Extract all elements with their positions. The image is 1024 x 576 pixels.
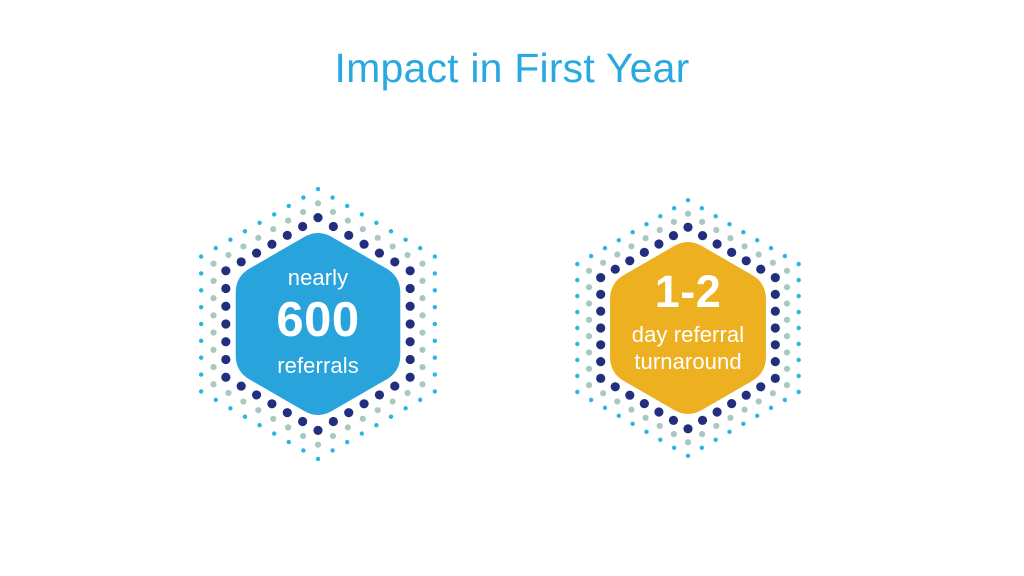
outer-cyan-dot-ring-dot [403, 237, 407, 241]
outer-cyan-dot-ring-dot [796, 326, 800, 330]
outer-cyan-dot-ring-dot [228, 237, 232, 241]
middle-sage-dot-ring-dot [255, 407, 261, 413]
outer-cyan-dot-ring-dot [575, 390, 579, 394]
outer-cyan-dot-ring-dot [433, 271, 437, 275]
middle-sage-dot-ring-dot [614, 251, 620, 257]
middle-sage-dot-ring-dot [210, 312, 216, 318]
outer-cyan-dot-ring-dot [214, 246, 218, 250]
outer-cyan-dot-ring-dot [433, 389, 437, 393]
middle-sage-dot-ring-dot [586, 284, 592, 290]
outer-cyan-dot-ring-dot [644, 430, 648, 434]
middle-sage-dot-ring-dot [419, 364, 425, 370]
inner-navy-dot-ring-dot [221, 319, 230, 328]
middle-sage-dot-ring-dot [315, 200, 321, 206]
middle-sage-dot-ring-dot [330, 433, 336, 439]
outer-cyan-dot-ring-dot [199, 271, 203, 275]
inner-navy-dot-ring-dot [771, 374, 780, 383]
outer-cyan-dot-ring-dot [575, 262, 579, 266]
outer-cyan-dot-ring-dot [243, 415, 247, 419]
middle-sage-dot-ring-dot [628, 243, 634, 249]
outer-cyan-dot-ring-dot [575, 326, 579, 330]
outer-cyan-dot-ring-dot [287, 204, 291, 208]
inner-navy-dot-ring-dot [640, 399, 649, 408]
outer-cyan-dot-ring-dot [433, 339, 437, 343]
middle-sage-dot-ring-dot [315, 442, 321, 448]
badge-turnaround-graphic [538, 178, 838, 478]
outer-cyan-dot-ring-dot [603, 246, 607, 250]
middle-sage-dot-ring-dot [586, 366, 592, 372]
inner-navy-dot-ring-dot [252, 390, 261, 399]
inner-navy-dot-ring-dot [406, 319, 415, 328]
outer-cyan-dot-ring-dot [575, 310, 579, 314]
inner-navy-dot-ring-dot [221, 302, 230, 311]
outer-cyan-dot-ring-dot [575, 358, 579, 362]
outer-cyan-dot-ring-dot [575, 278, 579, 282]
middle-sage-dot-ring-dot [210, 347, 216, 353]
outer-cyan-dot-ring-dot [796, 358, 800, 362]
inner-navy-dot-ring-dot [683, 223, 692, 232]
outer-cyan-dot-ring-dot [301, 448, 305, 452]
inner-navy-dot-ring-dot [344, 231, 353, 240]
outer-cyan-dot-ring-dot [617, 238, 621, 242]
outer-cyan-dot-ring-dot [301, 195, 305, 199]
inner-navy-dot-ring-dot [221, 373, 230, 382]
outer-cyan-dot-ring-dot [272, 212, 276, 216]
middle-sage-dot-ring-dot [741, 243, 747, 249]
inner-navy-dot-ring-dot [298, 417, 307, 426]
inner-navy-dot-ring-dot [713, 407, 722, 416]
inner-navy-dot-ring-dot [713, 239, 722, 248]
middle-sage-dot-ring-dot [642, 415, 648, 421]
outer-cyan-dot-ring-dot [658, 438, 662, 442]
outer-cyan-dot-ring-dot [575, 294, 579, 298]
middle-sage-dot-ring-dot [586, 333, 592, 339]
middle-sage-dot-ring-dot [225, 390, 231, 396]
outer-cyan-dot-ring-dot [360, 431, 364, 435]
middle-sage-dot-ring-dot [419, 330, 425, 336]
outer-cyan-dot-ring-dot [617, 414, 621, 418]
inner-navy-dot-ring-dot [596, 357, 605, 366]
outer-cyan-dot-ring-dot [345, 440, 349, 444]
inner-navy-dot-ring-dot [329, 222, 338, 231]
inner-navy-dot-ring-dot [669, 416, 678, 425]
outer-cyan-dot-ring-dot [796, 262, 800, 266]
outer-cyan-dot-ring-dot [287, 440, 291, 444]
outer-cyan-dot-ring-dot [755, 238, 759, 242]
middle-sage-dot-ring-dot [600, 260, 606, 266]
inner-navy-dot-ring-dot [698, 231, 707, 240]
middle-sage-dot-ring-dot [210, 278, 216, 284]
outer-cyan-dot-ring-dot [316, 457, 320, 461]
middle-sage-dot-ring-dot [756, 251, 762, 257]
inner-navy-dot-ring-dot [406, 355, 415, 364]
middle-sage-dot-ring-dot [671, 219, 677, 225]
slide-canvas: Impact in First Year nearly 600 referral… [0, 0, 1024, 576]
middle-sage-dot-ring-dot [784, 268, 790, 274]
middle-sage-dot-ring-dot [210, 295, 216, 301]
middle-sage-dot-ring-dot [784, 284, 790, 290]
inner-navy-dot-ring-dot [375, 390, 384, 399]
middle-sage-dot-ring-dot [375, 407, 381, 413]
middle-sage-dot-ring-dot [300, 209, 306, 215]
outer-cyan-dot-ring-dot [374, 423, 378, 427]
middle-sage-dot-ring-dot [685, 439, 691, 445]
outer-cyan-dot-ring-dot [741, 230, 745, 234]
outer-cyan-dot-ring-dot [575, 374, 579, 378]
outer-cyan-dot-ring-dot [433, 254, 437, 258]
middle-sage-dot-ring-dot [360, 416, 366, 422]
middle-sage-dot-ring-dot [784, 333, 790, 339]
middle-sage-dot-ring-dot [586, 382, 592, 388]
inner-navy-dot-ring-dot [771, 323, 780, 332]
outer-cyan-dot-ring-dot [741, 422, 745, 426]
middle-sage-dot-ring-dot [404, 252, 410, 258]
inner-navy-dot-ring-dot [237, 257, 246, 266]
inner-navy-dot-ring-dot [611, 265, 620, 274]
inner-navy-dot-ring-dot [742, 391, 751, 400]
middle-sage-dot-ring-dot [586, 317, 592, 323]
badge-referrals-graphic [168, 174, 468, 474]
middle-sage-dot-ring-dot [419, 261, 425, 267]
outer-cyan-dot-ring-dot [199, 356, 203, 360]
outer-cyan-dot-ring-dot [796, 310, 800, 314]
middle-sage-dot-ring-dot [642, 235, 648, 241]
inner-navy-dot-ring-dot [596, 290, 605, 299]
outer-cyan-dot-ring-dot [272, 431, 276, 435]
inner-navy-dot-ring-dot [406, 266, 415, 275]
inner-navy-dot-ring-dot [771, 273, 780, 282]
outer-cyan-dot-ring-dot [603, 406, 607, 410]
middle-sage-dot-ring-dot [671, 431, 677, 437]
middle-sage-dot-ring-dot [225, 252, 231, 258]
middle-sage-dot-ring-dot [657, 423, 663, 429]
outer-cyan-dot-ring-dot [686, 454, 690, 458]
outer-cyan-dot-ring-dot [672, 206, 676, 210]
middle-sage-dot-ring-dot [285, 424, 291, 430]
inner-navy-dot-ring-dot [756, 382, 765, 391]
badge-referrals: nearly 600 referrals [168, 174, 468, 474]
outer-cyan-dot-ring-dot [658, 214, 662, 218]
outer-cyan-dot-ring-dot [199, 322, 203, 326]
middle-sage-dot-ring-dot [713, 423, 719, 429]
hexagon-shape-yellow [610, 242, 766, 414]
middle-sage-dot-ring-dot [699, 431, 705, 437]
outer-cyan-dot-ring-dot [755, 414, 759, 418]
inner-navy-dot-ring-dot [283, 408, 292, 417]
outer-cyan-dot-ring-dot [374, 221, 378, 225]
inner-navy-dot-ring-dot [406, 373, 415, 382]
middle-sage-dot-ring-dot [727, 415, 733, 421]
inner-navy-dot-ring-dot [771, 290, 780, 299]
outer-cyan-dot-ring-dot [316, 187, 320, 191]
inner-navy-dot-ring-dot [406, 337, 415, 346]
middle-sage-dot-ring-dot [586, 349, 592, 355]
middle-sage-dot-ring-dot [770, 260, 776, 266]
outer-cyan-dot-ring-dot [796, 390, 800, 394]
middle-sage-dot-ring-dot [390, 243, 396, 249]
outer-cyan-dot-ring-dot [796, 294, 800, 298]
outer-cyan-dot-ring-dot [796, 374, 800, 378]
inner-navy-dot-ring-dot [683, 424, 692, 433]
inner-navy-dot-ring-dot [252, 248, 261, 257]
middle-sage-dot-ring-dot [270, 416, 276, 422]
inner-navy-dot-ring-dot [406, 284, 415, 293]
badge-group: nearly 600 referrals 1-2 day referral tu… [0, 0, 1024, 576]
inner-navy-dot-ring-dot [611, 382, 620, 391]
inner-navy-dot-ring-dot [313, 426, 322, 435]
outer-cyan-dot-ring-dot [433, 322, 437, 326]
middle-sage-dot-ring-dot [586, 300, 592, 306]
middle-sage-dot-ring-dot [685, 211, 691, 217]
inner-navy-dot-ring-dot [625, 391, 634, 400]
middle-sage-dot-ring-dot [375, 235, 381, 241]
outer-cyan-dot-ring-dot [433, 356, 437, 360]
inner-navy-dot-ring-dot [698, 416, 707, 425]
middle-sage-dot-ring-dot [419, 347, 425, 353]
middle-sage-dot-ring-dot [404, 390, 410, 396]
outer-cyan-dot-ring-dot [199, 339, 203, 343]
middle-sage-dot-ring-dot [699, 219, 705, 225]
middle-sage-dot-ring-dot [419, 278, 425, 284]
outer-cyan-dot-ring-dot [783, 398, 787, 402]
inner-navy-dot-ring-dot [267, 240, 276, 249]
outer-cyan-dot-ring-dot [713, 214, 717, 218]
middle-sage-dot-ring-dot [628, 407, 634, 413]
outer-cyan-dot-ring-dot [199, 389, 203, 393]
inner-navy-dot-ring-dot [313, 213, 322, 222]
outer-cyan-dot-ring-dot [727, 430, 731, 434]
inner-navy-dot-ring-dot [221, 337, 230, 346]
inner-navy-dot-ring-dot [669, 231, 678, 240]
middle-sage-dot-ring-dot [360, 226, 366, 232]
middle-sage-dot-ring-dot [727, 235, 733, 241]
outer-cyan-dot-ring-dot [243, 229, 247, 233]
middle-sage-dot-ring-dot [784, 366, 790, 372]
inner-navy-dot-ring-dot [406, 302, 415, 311]
outer-cyan-dot-ring-dot [630, 230, 634, 234]
middle-sage-dot-ring-dot [419, 295, 425, 301]
outer-cyan-dot-ring-dot [389, 229, 393, 233]
middle-sage-dot-ring-dot [784, 300, 790, 306]
outer-cyan-dot-ring-dot [257, 423, 261, 427]
middle-sage-dot-ring-dot [210, 381, 216, 387]
outer-cyan-dot-ring-dot [418, 246, 422, 250]
inner-navy-dot-ring-dot [221, 284, 230, 293]
inner-navy-dot-ring-dot [625, 256, 634, 265]
inner-navy-dot-ring-dot [742, 256, 751, 265]
inner-navy-dot-ring-dot [390, 257, 399, 266]
inner-navy-dot-ring-dot [727, 248, 736, 257]
outer-cyan-dot-ring-dot [433, 288, 437, 292]
outer-cyan-dot-ring-dot [796, 278, 800, 282]
inner-navy-dot-ring-dot [221, 355, 230, 364]
middle-sage-dot-ring-dot [345, 217, 351, 223]
outer-cyan-dot-ring-dot [630, 422, 634, 426]
outer-cyan-dot-ring-dot [199, 288, 203, 292]
middle-sage-dot-ring-dot [345, 424, 351, 430]
outer-cyan-dot-ring-dot [783, 254, 787, 258]
middle-sage-dot-ring-dot [255, 235, 261, 241]
outer-cyan-dot-ring-dot [589, 254, 593, 258]
middle-sage-dot-ring-dot [756, 398, 762, 404]
outer-cyan-dot-ring-dot [686, 198, 690, 202]
outer-cyan-dot-ring-dot [199, 254, 203, 258]
inner-navy-dot-ring-dot [267, 399, 276, 408]
inner-navy-dot-ring-dot [727, 399, 736, 408]
inner-navy-dot-ring-dot [298, 222, 307, 231]
outer-cyan-dot-ring-dot [345, 204, 349, 208]
middle-sage-dot-ring-dot [419, 312, 425, 318]
middle-sage-dot-ring-dot [741, 407, 747, 413]
outer-cyan-dot-ring-dot [700, 206, 704, 210]
outer-cyan-dot-ring-dot [672, 446, 676, 450]
inner-navy-dot-ring-dot [640, 248, 649, 257]
inner-navy-dot-ring-dot [329, 417, 338, 426]
outer-cyan-dot-ring-dot [769, 406, 773, 410]
outer-cyan-dot-ring-dot [713, 438, 717, 442]
outer-cyan-dot-ring-dot [589, 398, 593, 402]
inner-navy-dot-ring-dot [596, 323, 605, 332]
middle-sage-dot-ring-dot [210, 364, 216, 370]
outer-cyan-dot-ring-dot [700, 446, 704, 450]
middle-sage-dot-ring-dot [210, 330, 216, 336]
middle-sage-dot-ring-dot [210, 261, 216, 267]
inner-navy-dot-ring-dot [771, 357, 780, 366]
middle-sage-dot-ring-dot [784, 382, 790, 388]
outer-cyan-dot-ring-dot [403, 406, 407, 410]
inner-navy-dot-ring-dot [756, 265, 765, 274]
middle-sage-dot-ring-dot [419, 381, 425, 387]
middle-sage-dot-ring-dot [270, 226, 276, 232]
middle-sage-dot-ring-dot [390, 398, 396, 404]
outer-cyan-dot-ring-dot [228, 406, 232, 410]
outer-cyan-dot-ring-dot [330, 448, 334, 452]
middle-sage-dot-ring-dot [600, 390, 606, 396]
outer-cyan-dot-ring-dot [214, 398, 218, 402]
middle-sage-dot-ring-dot [784, 317, 790, 323]
outer-cyan-dot-ring-dot [433, 372, 437, 376]
middle-sage-dot-ring-dot [586, 268, 592, 274]
inner-navy-dot-ring-dot [596, 273, 605, 282]
middle-sage-dot-ring-dot [240, 398, 246, 404]
outer-cyan-dot-ring-dot [769, 246, 773, 250]
hexagon-shape-blue [236, 233, 401, 415]
outer-cyan-dot-ring-dot [199, 305, 203, 309]
inner-navy-dot-ring-dot [237, 381, 246, 390]
middle-sage-dot-ring-dot [770, 390, 776, 396]
badge-turnaround: 1-2 day referral turnaround [538, 178, 838, 478]
middle-sage-dot-ring-dot [330, 209, 336, 215]
outer-cyan-dot-ring-dot [796, 342, 800, 346]
middle-sage-dot-ring-dot [784, 349, 790, 355]
inner-navy-dot-ring-dot [283, 231, 292, 240]
middle-sage-dot-ring-dot [713, 227, 719, 233]
outer-cyan-dot-ring-dot [644, 222, 648, 226]
inner-navy-dot-ring-dot [359, 399, 368, 408]
outer-cyan-dot-ring-dot [257, 221, 261, 225]
inner-navy-dot-ring-dot [221, 266, 230, 275]
outer-cyan-dot-ring-dot [433, 305, 437, 309]
middle-sage-dot-ring-dot [657, 227, 663, 233]
outer-cyan-dot-ring-dot [199, 372, 203, 376]
outer-cyan-dot-ring-dot [330, 195, 334, 199]
inner-navy-dot-ring-dot [771, 340, 780, 349]
middle-sage-dot-ring-dot [300, 433, 306, 439]
outer-cyan-dot-ring-dot [727, 222, 731, 226]
inner-navy-dot-ring-dot [344, 408, 353, 417]
middle-sage-dot-ring-dot [285, 217, 291, 223]
inner-navy-dot-ring-dot [596, 340, 605, 349]
inner-navy-dot-ring-dot [771, 307, 780, 316]
outer-cyan-dot-ring-dot [575, 342, 579, 346]
inner-navy-dot-ring-dot [359, 240, 368, 249]
middle-sage-dot-ring-dot [614, 398, 620, 404]
outer-cyan-dot-ring-dot [389, 415, 393, 419]
inner-navy-dot-ring-dot [596, 307, 605, 316]
inner-navy-dot-ring-dot [654, 239, 663, 248]
inner-navy-dot-ring-dot [390, 381, 399, 390]
middle-sage-dot-ring-dot [240, 243, 246, 249]
inner-navy-dot-ring-dot [596, 374, 605, 383]
outer-cyan-dot-ring-dot [360, 212, 364, 216]
inner-navy-dot-ring-dot [654, 407, 663, 416]
outer-cyan-dot-ring-dot [418, 398, 422, 402]
inner-navy-dot-ring-dot [375, 248, 384, 257]
